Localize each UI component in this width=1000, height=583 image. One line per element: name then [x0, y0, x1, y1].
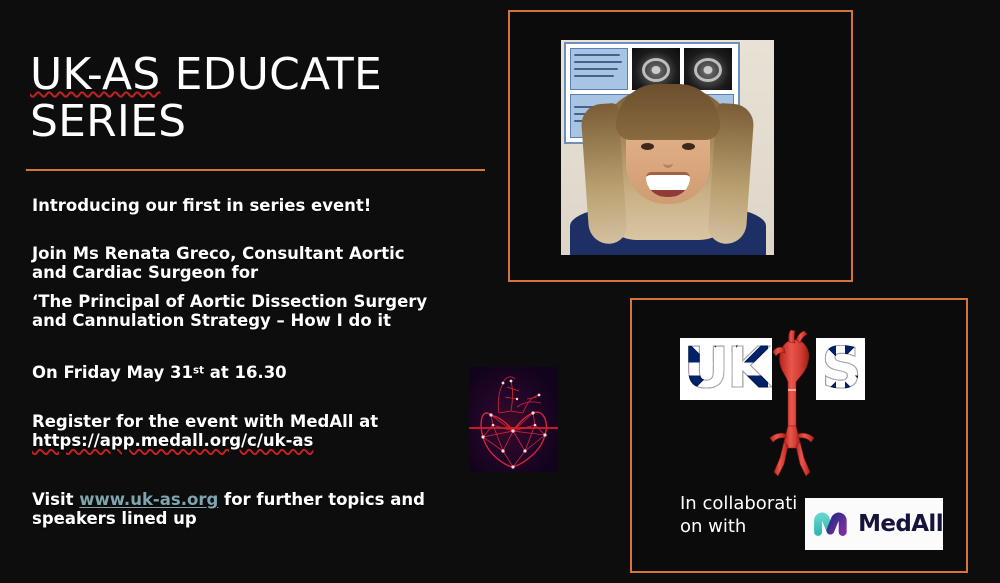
collaboration-label: In collaboration with	[680, 492, 798, 538]
ukas-logo-letters-left: UK	[684, 341, 769, 397]
title-divider-rule	[26, 169, 485, 171]
logo-panel: UK S	[630, 298, 968, 573]
date-time-line: On Friday May 31st at 16.30	[32, 363, 484, 382]
registration-line: Register for the event with MedAll at ht…	[32, 412, 484, 451]
title-rest: EDUCATE	[160, 49, 382, 100]
registration-text: Register for the event with MedAll at	[32, 412, 378, 431]
talk-title-line: ‘The Principal of Aortic Dissection Surg…	[32, 292, 484, 331]
date-suffix: at 16.30	[204, 363, 287, 382]
registration-url[interactable]: https://app.medall.org/c/uk-as	[32, 431, 313, 450]
medall-wordmark: MedAll	[858, 511, 943, 537]
poster-canvas: UK-AS EDUCATE SERIES Introducing our fir…	[0, 0, 1000, 583]
heart-highlight-band	[469, 427, 558, 429]
ultrasound-scan-right	[684, 48, 732, 90]
poster-text-row	[574, 54, 620, 56]
title-misspelled-word: UK-AS	[30, 49, 160, 100]
page-title: UK-AS EDUCATE SERIES	[30, 52, 490, 145]
heart-wireframe-svg	[469, 367, 558, 472]
speaker-photo-panel	[508, 10, 853, 282]
ukas-logo: UK S	[680, 330, 865, 490]
left-content-column: UK-AS EDUCATE SERIES	[30, 52, 490, 145]
website-link[interactable]: www.uk-as.org	[79, 490, 218, 509]
poster-text-row	[574, 61, 622, 63]
visit-prefix: Visit	[32, 490, 79, 509]
speaker-photo	[561, 40, 774, 255]
date-ordinal-suffix: st	[193, 365, 204, 376]
intro-line: Introducing our first in series event!	[32, 196, 484, 215]
ukas-logo-letters-right: S	[821, 341, 859, 397]
ukas-logo-letters-left-tile: UK	[680, 338, 772, 400]
medall-mark-icon	[813, 507, 852, 541]
wireframe-heart-graphic	[469, 367, 558, 472]
speaker-hair-top	[616, 84, 720, 140]
poster-text-row	[574, 68, 618, 70]
visit-website-line: Visit www.uk-as.org for further topics a…	[32, 490, 484, 529]
poster-text-row	[574, 75, 614, 77]
date-prefix: On Friday May 31	[32, 363, 193, 382]
speaker-line: Join Ms Renata Greco, Consultant Aortic …	[32, 244, 484, 283]
title-line2: SERIES	[30, 96, 186, 147]
aorta-icon	[762, 330, 824, 480]
medall-logo: MedAll	[805, 498, 943, 550]
